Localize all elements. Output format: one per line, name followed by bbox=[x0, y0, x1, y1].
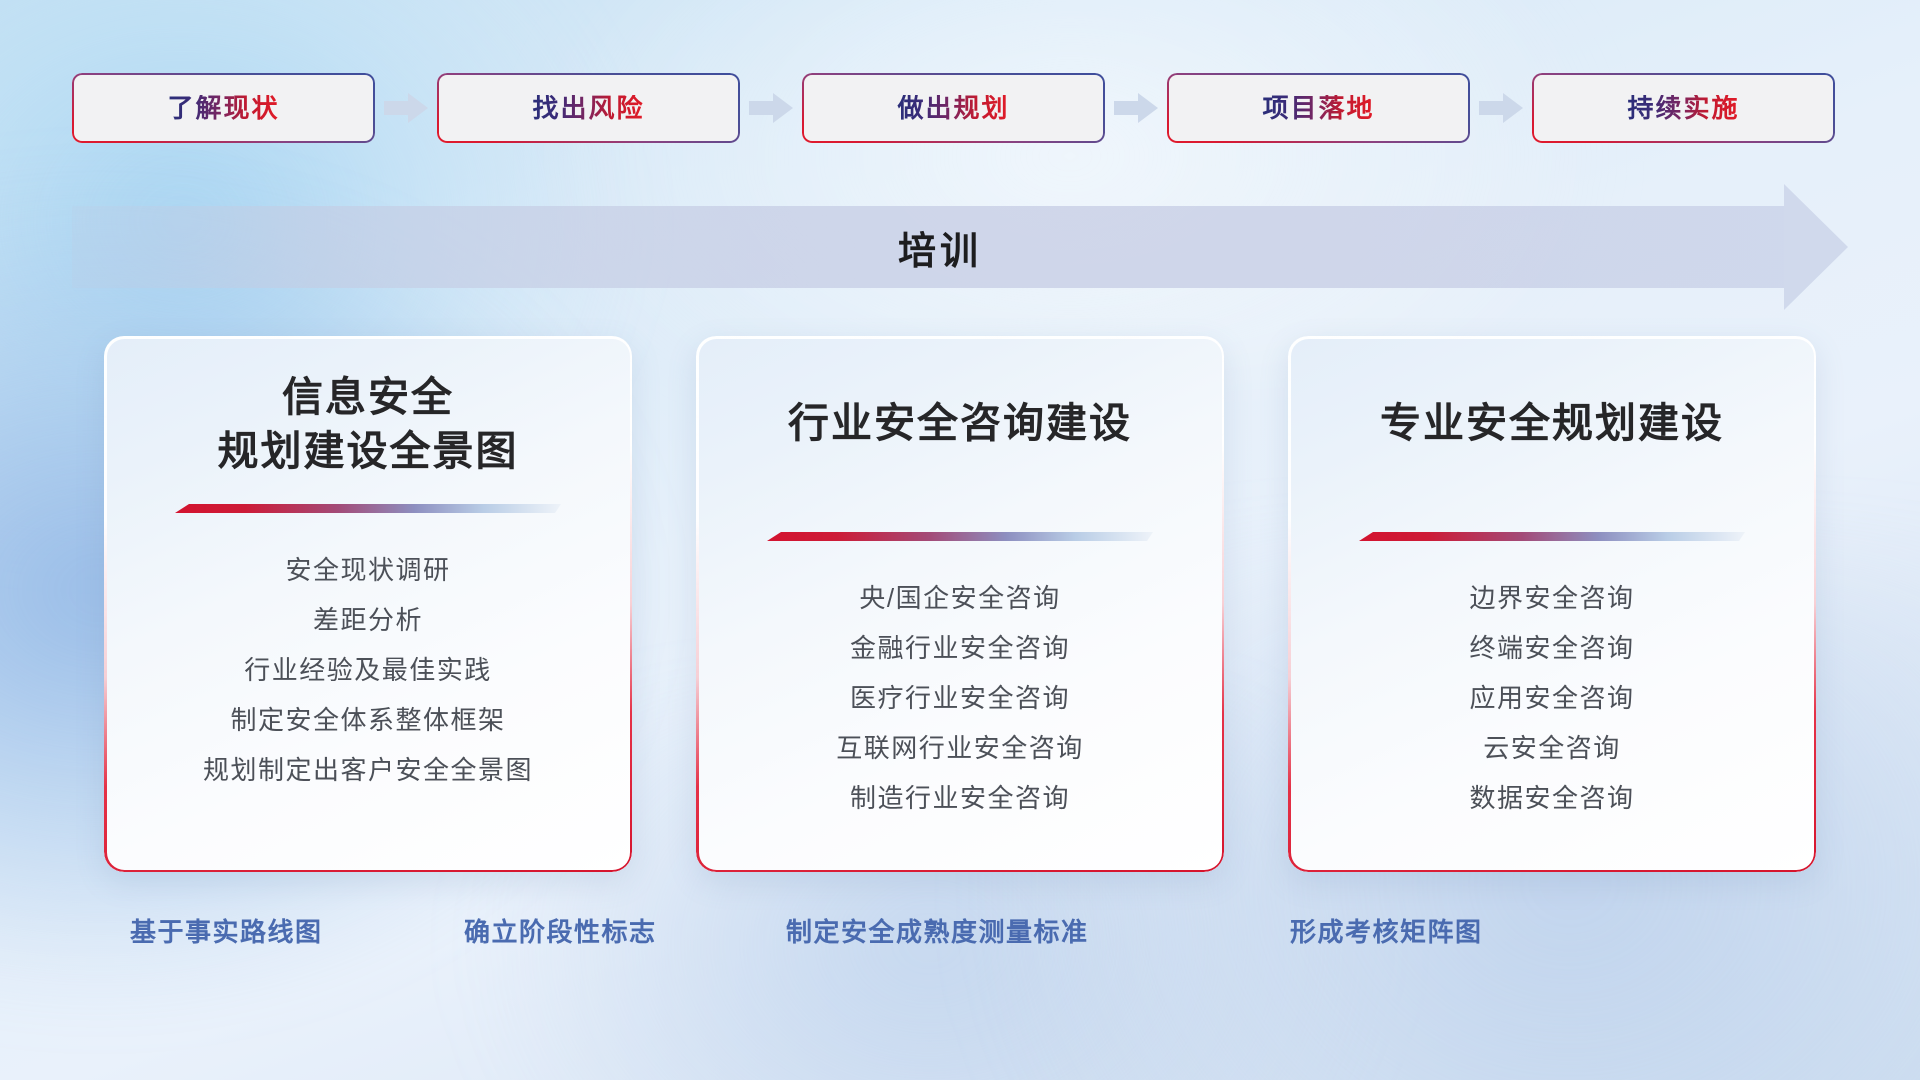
step-chip-4[interactable]: 持续实施 bbox=[1532, 73, 1835, 143]
step-chip-2[interactable]: 做出规划 bbox=[802, 73, 1105, 143]
list-item: 规划制定出客户安全全景图 bbox=[203, 745, 533, 795]
list-item: 医疗行业安全咨询 bbox=[850, 673, 1070, 723]
list-item: 互联网行业安全咨询 bbox=[836, 723, 1084, 773]
list-item: 云安全咨询 bbox=[1483, 723, 1621, 773]
list-item: 差距分析 bbox=[313, 595, 423, 645]
capability-card-2[interactable]: 专业安全规划建设 边界安全咨询 终端安全咨询 bbox=[1288, 336, 1816, 872]
capability-card-title-2-line1: 专业安全规划建设 bbox=[1380, 396, 1724, 450]
list-item: 制定安全体系整体框架 bbox=[230, 695, 505, 745]
step-arrow-icon-2 bbox=[1105, 73, 1167, 143]
card-divider-0 bbox=[175, 502, 561, 515]
card-divider-1 bbox=[767, 530, 1153, 543]
capability-card-title-1: 行业安全咨询建设 bbox=[764, 396, 1156, 450]
capability-card-title-2: 专业安全规划建设 bbox=[1356, 396, 1748, 450]
step-chip-1[interactable]: 找出风险 bbox=[437, 73, 740, 143]
list-item: 数据安全咨询 bbox=[1469, 773, 1634, 823]
list-item: 应用安全咨询 bbox=[1469, 673, 1634, 723]
step-chip-0[interactable]: 了解现状 bbox=[72, 73, 375, 143]
step-chip-3[interactable]: 项目落地 bbox=[1167, 73, 1470, 143]
capability-card-title-1-line1: 行业安全咨询建设 bbox=[788, 396, 1132, 450]
step-label-3: 项目落地 bbox=[1262, 95, 1374, 121]
capability-card-title-0-line1: 信息安全 bbox=[218, 370, 519, 424]
step-label-0: 了解现状 bbox=[167, 95, 279, 121]
training-banner: 培训 bbox=[72, 206, 1848, 288]
training-banner-title: 培训 bbox=[72, 206, 1848, 288]
step-label-2: 做出规划 bbox=[897, 95, 1009, 121]
background-highlight-top bbox=[520, 0, 1620, 380]
capability-card-list-1: 央/国企安全咨询 金融行业安全咨询 医疗行业安全咨询 互联网行业安全咨询 制造行… bbox=[696, 573, 1224, 823]
list-item: 安全现状调研 bbox=[285, 545, 450, 595]
step-arrow-icon-3 bbox=[1470, 73, 1532, 143]
list-item: 金融行业安全咨询 bbox=[850, 623, 1070, 673]
list-item: 制造行业安全咨询 bbox=[850, 773, 1070, 823]
capability-card-0[interactable]: 信息安全 规划建设全景图 安全现状调研 差 bbox=[104, 336, 632, 872]
list-item: 终端安全咨询 bbox=[1469, 623, 1634, 673]
capability-card-list-0: 安全现状调研 差距分析 行业经验及最佳实践 制定安全体系整体框架 规划制定出客户… bbox=[104, 545, 632, 795]
footer-label-0: 基于事实路线图 bbox=[130, 912, 323, 949]
step-arrow-icon-0 bbox=[375, 73, 437, 143]
capability-card-title-0-line2: 规划建设全景图 bbox=[218, 424, 519, 478]
capability-card-1[interactable]: 行业安全咨询建设 央/国企安全咨询 金融行业安全咨询 bbox=[696, 336, 1224, 872]
step-label-4: 持续实施 bbox=[1627, 95, 1739, 121]
list-item: 行业经验及最佳实践 bbox=[244, 645, 492, 695]
footer-labels-row: 基于事实路线图 确立阶段性标志 制定安全成熟度测量标准 形成考核矩阵图 bbox=[0, 912, 1920, 960]
capability-cards: 信息安全 规划建设全景图 安全现状调研 差 bbox=[0, 336, 1920, 872]
step-label-1: 找出风险 bbox=[532, 95, 644, 121]
card-divider-2 bbox=[1359, 530, 1745, 543]
list-item: 央/国企安全咨询 bbox=[859, 573, 1060, 623]
list-item: 边界安全咨询 bbox=[1469, 573, 1634, 623]
capability-card-title-0: 信息安全 规划建设全景图 bbox=[194, 370, 543, 478]
process-steps-row: 了解现状 找出风险 做出规划 项目落地 持续实施 bbox=[0, 73, 1920, 143]
footer-label-3: 形成考核矩阵图 bbox=[1290, 912, 1483, 949]
step-arrow-icon-1 bbox=[740, 73, 802, 143]
capability-card-list-2: 边界安全咨询 终端安全咨询 应用安全咨询 云安全咨询 数据安全咨询 bbox=[1288, 573, 1816, 823]
footer-label-1: 确立阶段性标志 bbox=[464, 912, 657, 949]
footer-label-2: 制定安全成熟度测量标准 bbox=[786, 912, 1089, 949]
